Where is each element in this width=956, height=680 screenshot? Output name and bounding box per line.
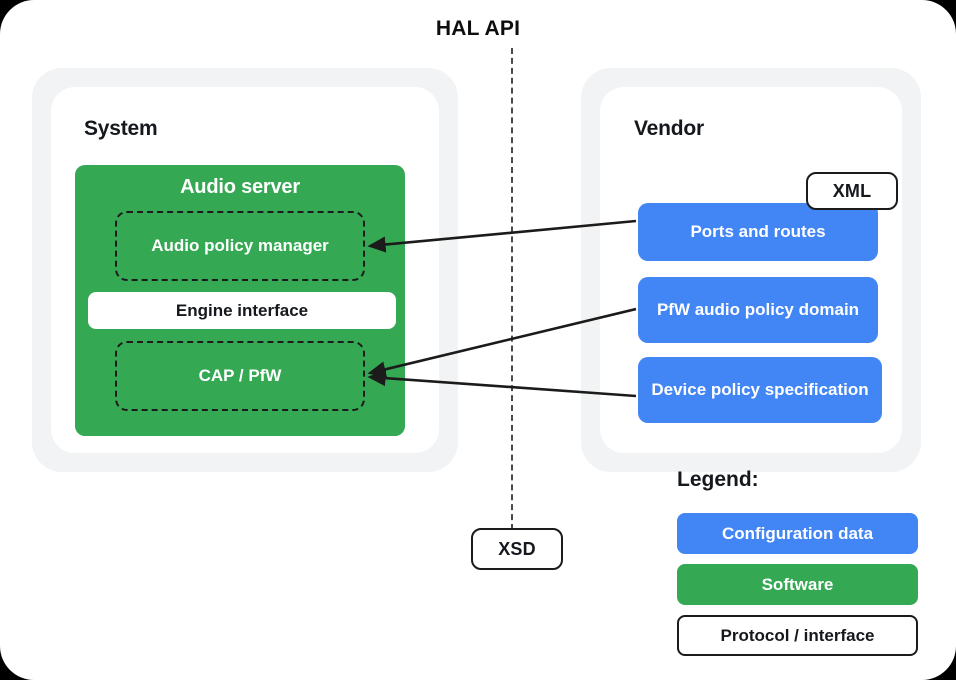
hal-api-label: HAL API <box>0 17 956 41</box>
legend-item-software-label: Software <box>762 575 834 595</box>
legend-title: Legend: <box>677 468 759 492</box>
engine-interface-label: Engine interface <box>176 301 308 321</box>
vendor-panel-title: Vendor <box>634 117 704 141</box>
legend-item-configuration-data-label: Configuration data <box>722 524 873 544</box>
audio-server-title: Audio server <box>75 173 405 201</box>
legend-item-protocol-interface-label: Protocol / interface <box>721 626 875 646</box>
xml-badge[interactable]: XML <box>806 172 898 210</box>
cap-pfw-label: CAP / PfW <box>199 366 282 386</box>
legend-item-software: Software <box>677 564 918 605</box>
hal-api-divider-icon <box>511 48 513 530</box>
diagram-canvas: HAL API System Audio server Audio policy… <box>0 0 956 680</box>
device-policy-specification-block[interactable]: Device policy specification <box>638 357 882 423</box>
legend-item-configuration-data: Configuration data <box>677 513 918 554</box>
cap-pfw-block[interactable]: CAP / PfW <box>115 341 365 411</box>
ports-and-routes-block[interactable]: Ports and routes <box>638 203 878 261</box>
pfw-audio-policy-domain-label: PfW audio policy domain <box>657 299 859 320</box>
xml-badge-label: XML <box>833 181 872 202</box>
pfw-audio-policy-domain-block[interactable]: PfW audio policy domain <box>638 277 878 343</box>
system-panel-title: System <box>84 117 158 141</box>
audio-policy-manager-label: Audio policy manager <box>151 236 329 256</box>
engine-interface-block[interactable]: Engine interface <box>88 292 396 329</box>
device-policy-specification-label: Device policy specification <box>651 379 868 400</box>
xsd-badge-label: XSD <box>498 539 536 560</box>
ports-and-routes-label: Ports and routes <box>690 221 825 242</box>
legend-item-protocol-interface: Protocol / interface <box>677 615 918 656</box>
xsd-badge[interactable]: XSD <box>471 528 563 570</box>
audio-policy-manager-block[interactable]: Audio policy manager <box>115 211 365 281</box>
